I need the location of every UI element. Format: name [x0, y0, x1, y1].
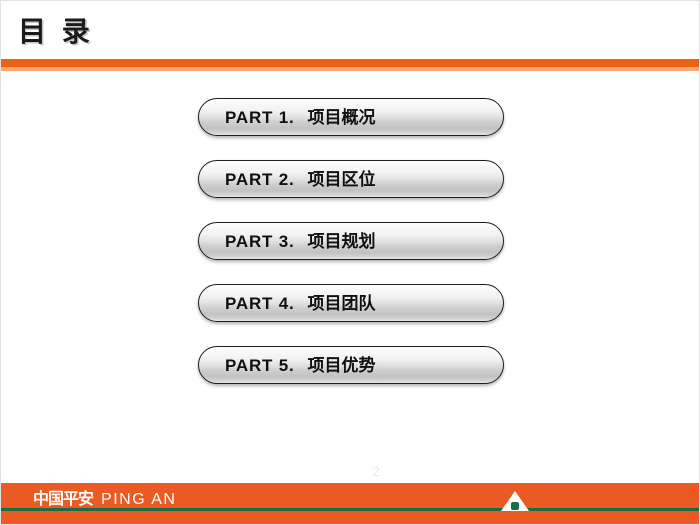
toc-item-part-2[interactable]: PART 2.项目区位: [198, 160, 504, 198]
page-number: 2: [372, 463, 380, 479]
toc-item-text: 项目区位: [308, 170, 376, 189]
toc-item-part-1[interactable]: PART 1.项目概况: [198, 98, 504, 136]
pingan-arch-icon: [501, 491, 529, 511]
toc-item-label: PART 2.项目区位: [199, 171, 376, 188]
footer-green-line: [1, 508, 700, 511]
footer-bar: 中国平安PING AN: [1, 483, 700, 524]
pingan-logo: 中国平安PING AN: [33, 490, 176, 510]
toc-item-text: 项目规划: [308, 232, 376, 251]
toc-item-text: 项目团队: [308, 294, 376, 313]
pingan-logo-en: PING AN: [101, 491, 176, 508]
toc-item-number: PART 4.: [225, 294, 295, 313]
toc-item-part-3[interactable]: PART 3.项目规划: [198, 222, 504, 260]
toc-item-label: PART 4.项目团队: [199, 295, 376, 312]
toc-item-number: PART 2.: [225, 170, 295, 189]
toc-item-label: PART 1.项目概况: [199, 109, 376, 126]
toc-item-part-5[interactable]: PART 5.项目优势: [198, 346, 504, 384]
toc-item-number: PART 1.: [225, 108, 295, 127]
toc-item-number: PART 5.: [225, 356, 295, 375]
toc-item-label: PART 5.项目优势: [199, 357, 376, 374]
arch-inner-square: [511, 502, 519, 510]
page-title: 目 录: [18, 18, 94, 46]
header-divider-soft: [1, 67, 700, 71]
table-of-contents: PART 1.项目概况 PART 2.项目区位 PART 3.项目规划 PART…: [198, 98, 504, 384]
toc-item-number: PART 3.: [225, 232, 295, 251]
pingan-logo-cn: 中国平安: [33, 491, 93, 508]
toc-item-text: 项目优势: [308, 356, 376, 375]
toc-item-label: PART 3.项目规划: [199, 233, 376, 250]
header-divider: [1, 59, 700, 67]
toc-item-part-4[interactable]: PART 4.项目团队: [198, 284, 504, 322]
slide: 目 录 PART 1.项目概况 PART 2.项目区位 PART 3.项目规划 …: [0, 0, 700, 525]
toc-item-text: 项目概况: [308, 108, 376, 127]
